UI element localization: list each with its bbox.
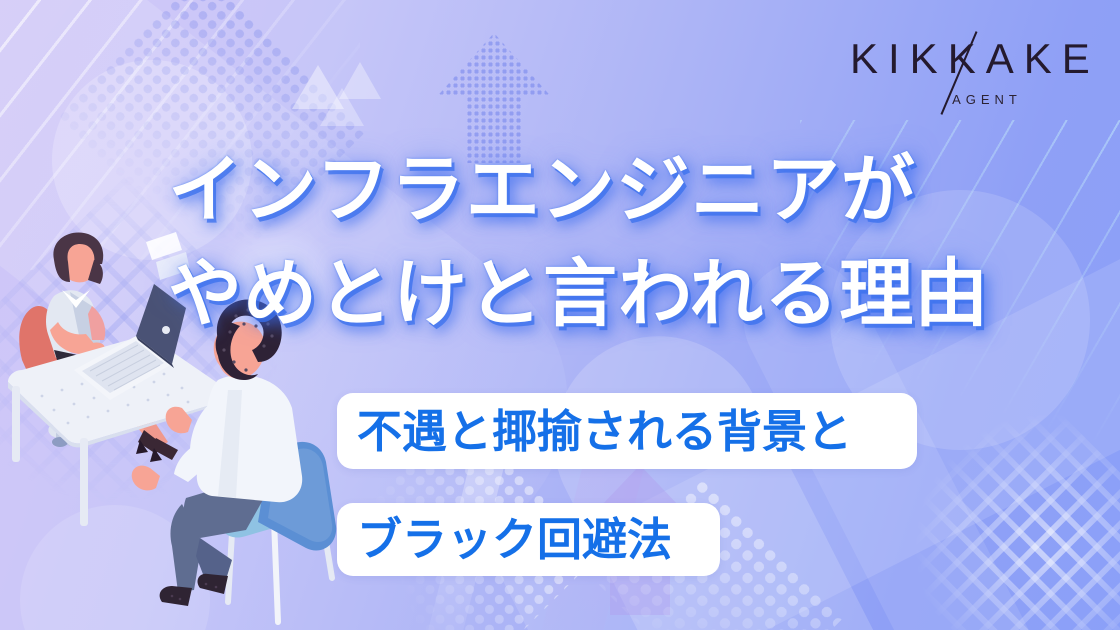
subtitle-pill-1-label: 不遇と揶揄される背景と <box>357 409 852 454</box>
page-title: インフラエンジニアが やめとけと言われる理由 <box>168 136 989 348</box>
triangle-decor-3 <box>339 62 381 99</box>
subtitle-pill-1: 不遇と揶揄される背景と <box>337 393 917 469</box>
headline-line-1: インフラエンジニアが <box>168 136 989 244</box>
subtitle-pill-2: ブラック回避法 <box>337 503 720 576</box>
kikkake-agent-logo: KIKKAKE AGENT <box>840 30 1090 116</box>
thumbnail-canvas: KIKKAKE AGENT インフラエンジニアが やめとけと言われる理由 不遇と… <box>0 0 1120 630</box>
logo-tagline: AGENT <box>840 92 1090 107</box>
triangle-decor-2 <box>320 88 364 126</box>
headline-line-2: やめとけと言われる理由 <box>168 240 989 348</box>
triangle-decor-1 <box>292 65 344 109</box>
subtitle-pill-2-label: ブラック回避法 <box>357 517 672 562</box>
